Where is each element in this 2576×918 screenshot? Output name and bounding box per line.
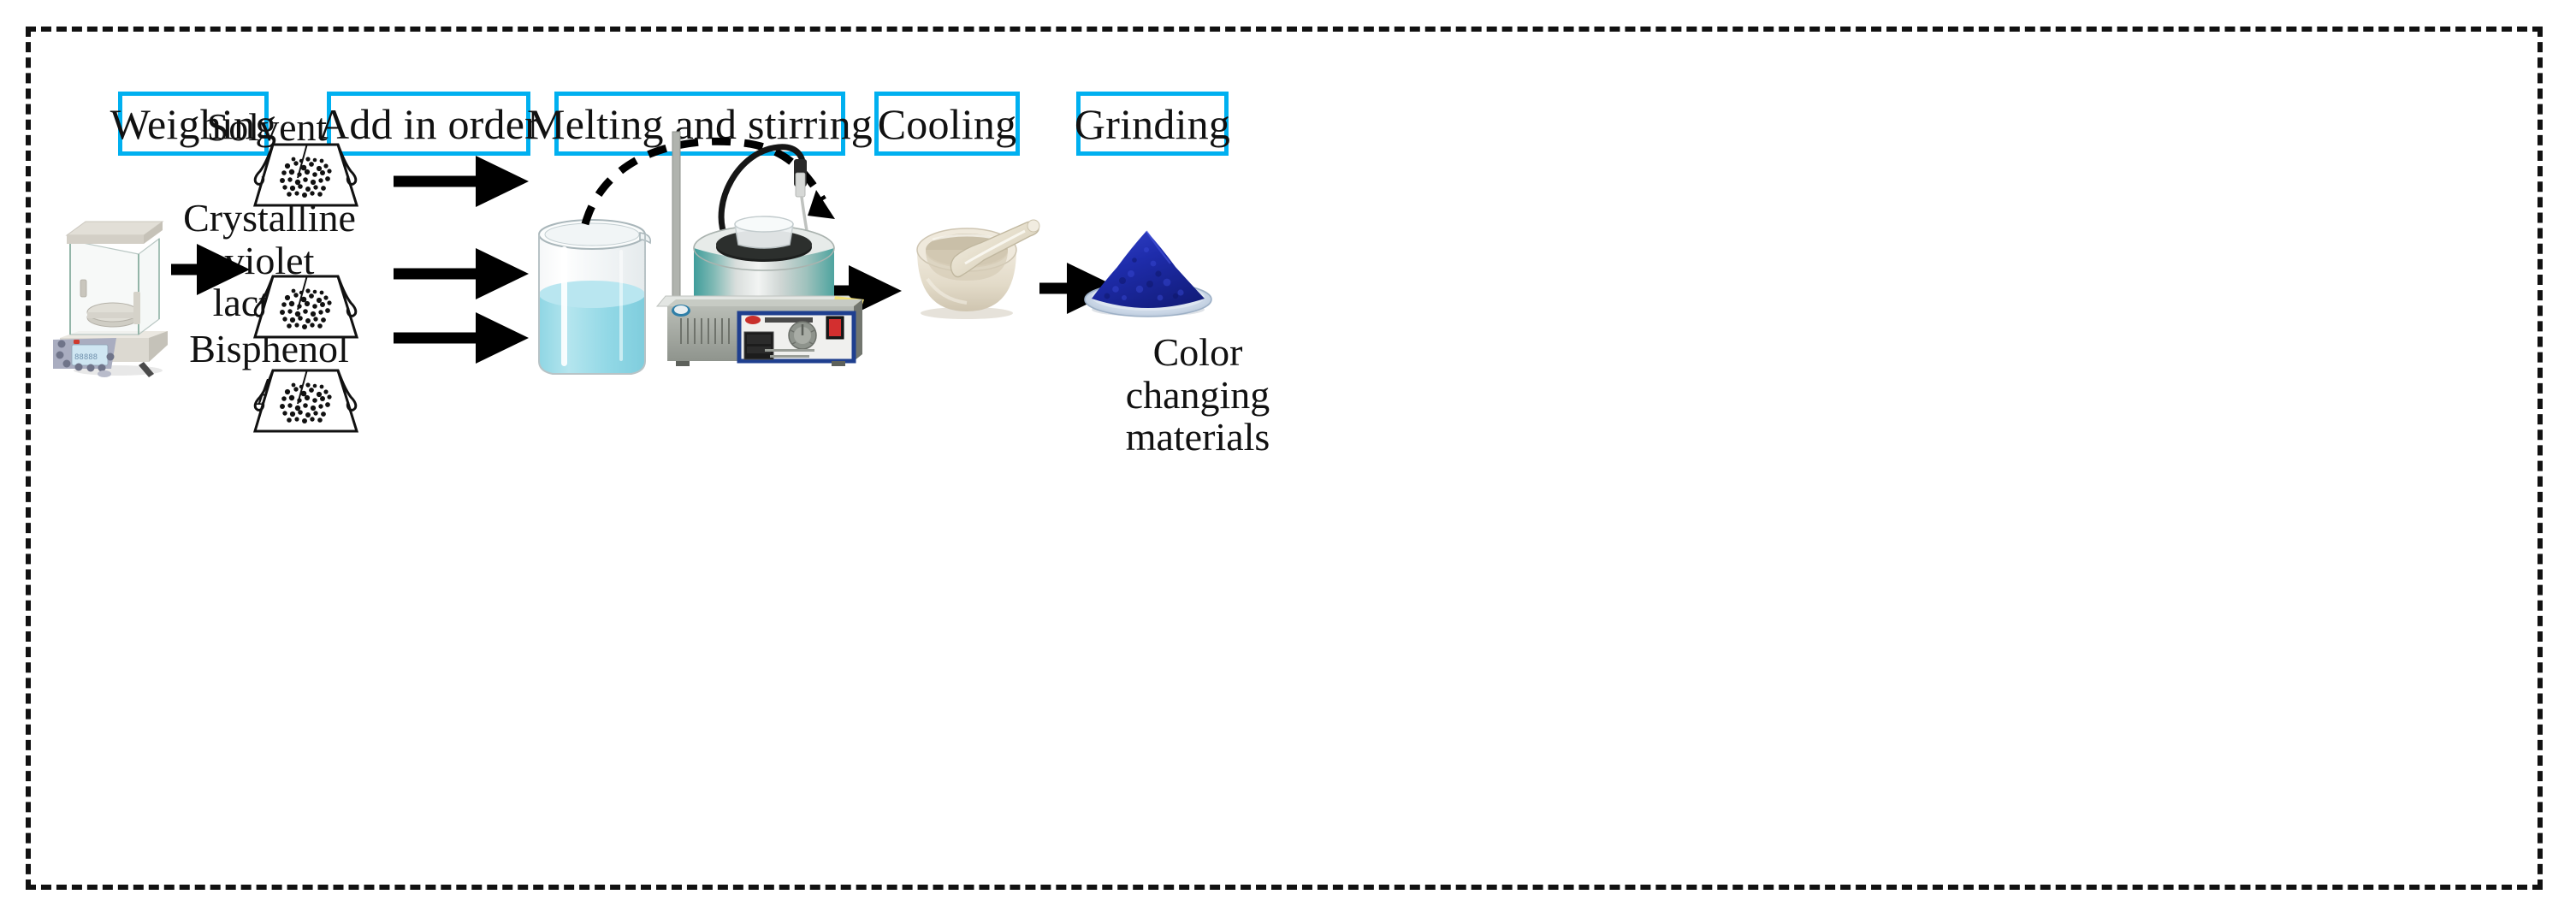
stage-box-cooling[interactable]: Cooling [874, 92, 1020, 156]
weighing-boat-bisphenol-a [246, 368, 364, 436]
stage-label-cooling: Cooling [878, 103, 1017, 145]
weighing-boat-solvent [246, 142, 364, 210]
weighing-boat-crystalline-violet-lactone [246, 274, 364, 342]
magnetic-stirrer-hotplate-image [650, 128, 873, 376]
svg-text:88888: 88888 [74, 353, 98, 362]
process-flow-figure: Weighing Add in order Melting and stirri… [0, 0, 2576, 918]
product-label-color-changing-materials: Color changing materials [1099, 331, 1296, 459]
analytical-balance-image: 88888 [48, 210, 185, 381]
stage-box-grinding[interactable]: Grinding [1076, 92, 1229, 156]
color-changing-powder-image [1075, 219, 1222, 322]
mortar-and-pestle-image [898, 212, 1044, 323]
stage-label-grinding: Grinding [1075, 103, 1230, 145]
